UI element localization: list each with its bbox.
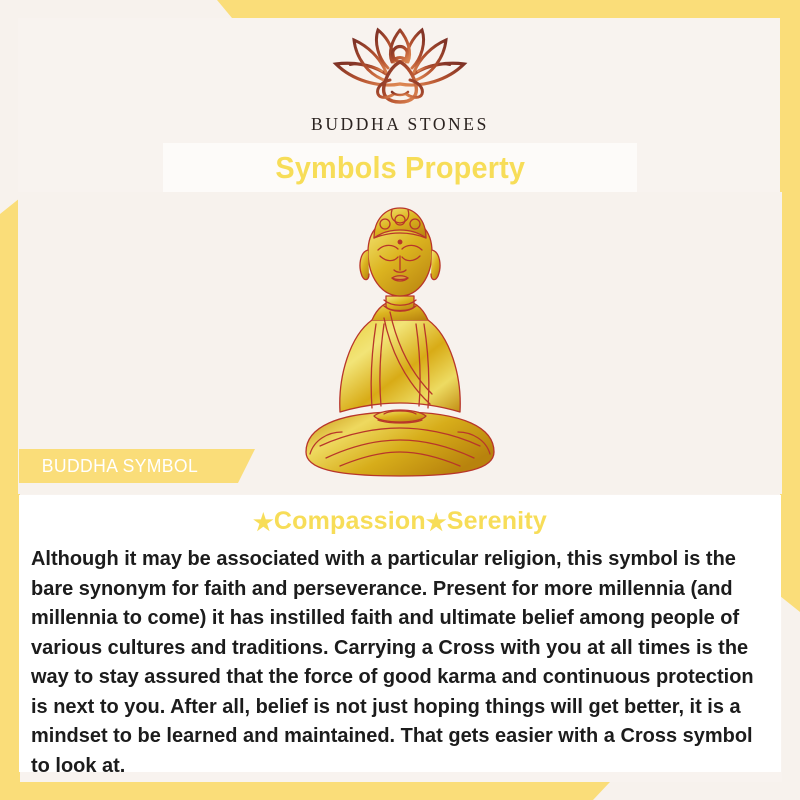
lotus-meditation-icon: [0, 22, 800, 112]
description-paragraph: Although it may be associated with a par…: [31, 545, 758, 781]
tagline-serenity: Serenity: [447, 507, 547, 535]
title-band: Symbols Property: [163, 143, 637, 192]
brand-logo-block: BUDDHA STONES: [0, 22, 800, 135]
decor-left-yellow-strip: [0, 198, 20, 800]
brand-name: BUDDHA STONES: [0, 114, 800, 135]
golden-buddha-statue-icon: [280, 200, 520, 490]
decor-top-yellow-band: [215, 0, 800, 18]
star-icon-2: ★: [426, 509, 447, 535]
buddha-symbol-ribbon: BUDDHA SYMBOL: [19, 449, 255, 483]
tagline-compassion: Compassion: [274, 507, 426, 535]
decor-bottom-yellow-band: [0, 782, 610, 800]
poster-page: BUDDHA STONES Symbols Property: [0, 0, 800, 800]
description-panel: ★Compassion★Serenity Although it may be …: [19, 495, 781, 772]
star-icon-1: ★: [253, 509, 274, 535]
page-title: Symbols Property: [275, 150, 525, 186]
tagline: ★Compassion★Serenity: [19, 507, 781, 536]
ribbon-label: BUDDHA SYMBOL: [19, 455, 198, 477]
hero-image-area: [18, 192, 782, 494]
